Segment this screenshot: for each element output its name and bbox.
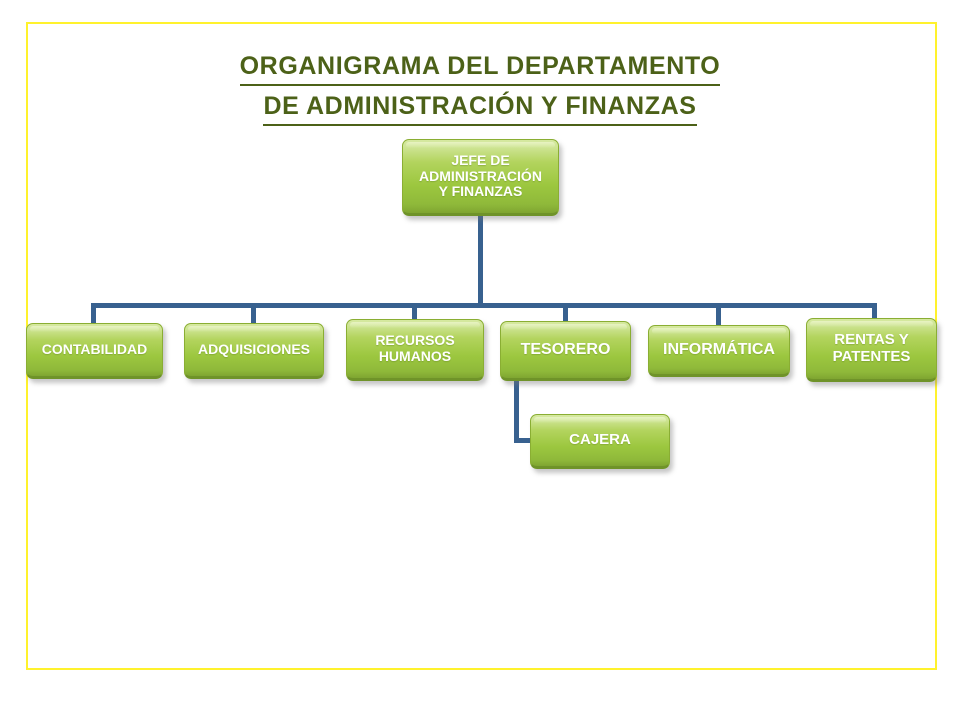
connector-drop-contabilidad	[91, 303, 96, 325]
connector-drop-informatica	[716, 303, 721, 327]
org-node-label: ADQUISICIONES	[194, 342, 314, 358]
org-node-label: TESORERO	[517, 341, 615, 359]
org-node-label-line-1: RECURSOS	[375, 332, 454, 348]
org-node-label: RENTAS Y PATENTES	[829, 332, 915, 366]
org-node-contabilidad[interactable]: CONTABILIDAD	[26, 323, 163, 379]
connector-drop-tesorero	[563, 303, 568, 323]
org-node-label-line-2: HUMANOS	[379, 348, 451, 364]
org-node-label: RECURSOS HUMANOS	[371, 333, 458, 364]
org-node-label: CAJERA	[565, 432, 635, 449]
connector-root-stem	[478, 214, 483, 308]
org-node-rentas-y-patentes[interactable]: RENTAS Y PATENTES	[806, 318, 937, 382]
page-title-line-2: DE ADMINISTRACIÓN Y FINANZAS	[263, 90, 696, 126]
org-node-label: INFORMÁTICA	[659, 341, 779, 359]
org-node-tesorero[interactable]: TESORERO	[500, 321, 631, 381]
org-node-cajera[interactable]: CAJERA	[530, 414, 670, 469]
slide-canvas: ORGANIGRAMA DEL DEPARTAMENTO DE ADMINIST…	[0, 0, 960, 720]
org-node-label-line-3: Y FINANZAS	[439, 183, 523, 199]
connector-horizontal-bus	[91, 303, 877, 308]
connector-drop-adquisiciones	[251, 303, 256, 325]
page-title: ORGANIGRAMA DEL DEPARTAMENTO DE ADMINIST…	[0, 50, 960, 126]
org-node-label: CONTABILIDAD	[38, 342, 152, 358]
org-node-label-line-2: PATENTES	[833, 348, 911, 365]
org-node-label: JEFE DE ADMINISTRACIÓN Y FINANZAS	[415, 153, 546, 200]
org-node-label-line-1: RENTAS Y	[834, 331, 908, 348]
org-node-informatica[interactable]: INFORMÁTICA	[648, 325, 790, 377]
org-node-adquisiciones[interactable]: ADQUISICIONES	[184, 323, 324, 379]
org-node-jefe-administracion-finanzas[interactable]: JEFE DE ADMINISTRACIÓN Y FINANZAS	[402, 139, 559, 216]
org-node-label-line-1: JEFE DE	[451, 152, 509, 168]
org-node-recursos-humanos[interactable]: RECURSOS HUMANOS	[346, 319, 484, 381]
org-node-label-line-2: ADMINISTRACIÓN	[419, 168, 542, 184]
page-title-line-1: ORGANIGRAMA DEL DEPARTAMENTO	[240, 50, 721, 86]
